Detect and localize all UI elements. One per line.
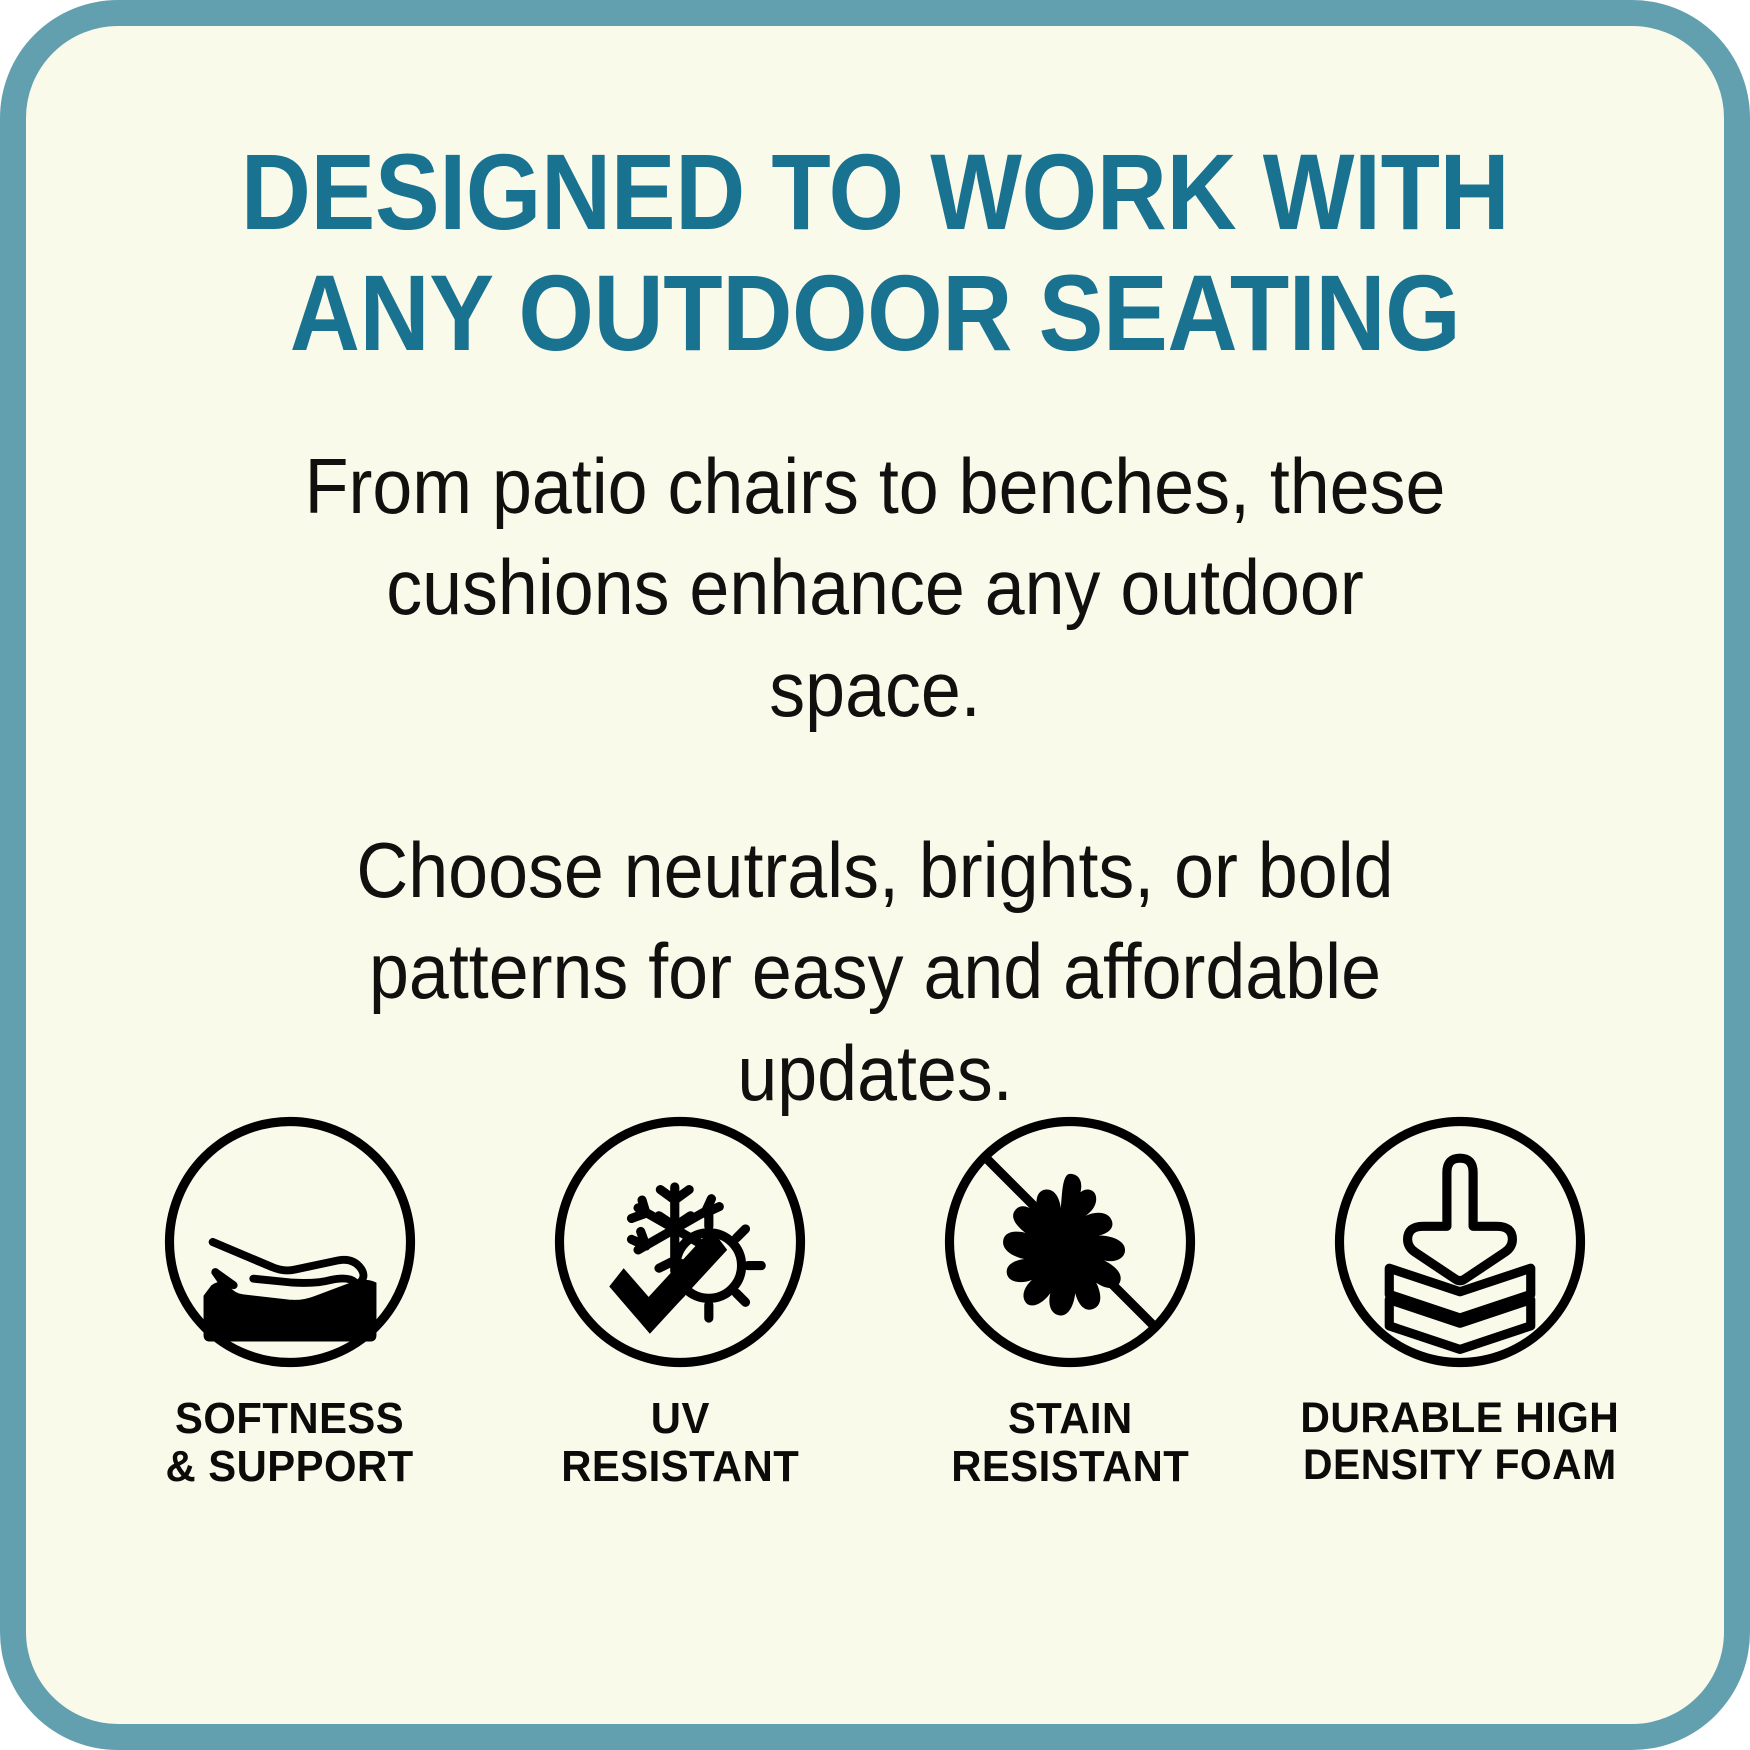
feature-softness-support: SOFTNESS & SUPPORT [120, 1111, 460, 1492]
feature-label: STAIN RESISTANT [951, 1395, 1189, 1492]
feature-uv-resistant: UV RESISTANT [510, 1111, 850, 1492]
product-feature-card: DESIGNED TO WORK WITH ANY OUTDOOR SEATIN… [0, 0, 1750, 1750]
arrow-into-foam-layers-icon [1329, 1111, 1591, 1373]
description-paragraph-1: From patio chairs to benches, these cush… [278, 436, 1472, 740]
feature-durable-foam: DURABLE HIGH DENSITY FOAM [1290, 1111, 1630, 1490]
description-paragraph-2: Choose neutrals, brights, or bold patter… [278, 820, 1472, 1124]
snowflake-sun-uv-icon [549, 1111, 811, 1373]
description-block: From patio chairs to benches, these cush… [94, 374, 1656, 1124]
feature-label: SOFTNESS & SUPPORT [166, 1395, 414, 1492]
page-title: DESIGNED TO WORK WITH ANY OUTDOOR SEATIN… [111, 132, 1639, 374]
feature-label: UV RESISTANT [561, 1395, 799, 1492]
no-stain-splat-icon [939, 1111, 1201, 1373]
feature-badge-row: SOFTNESS & SUPPORT [120, 1111, 1630, 1492]
hand-on-cushion-icon [159, 1111, 421, 1373]
feature-label: DURABLE HIGH DENSITY FOAM [1301, 1395, 1620, 1490]
feature-stain-resistant: STAIN RESISTANT [900, 1111, 1240, 1492]
